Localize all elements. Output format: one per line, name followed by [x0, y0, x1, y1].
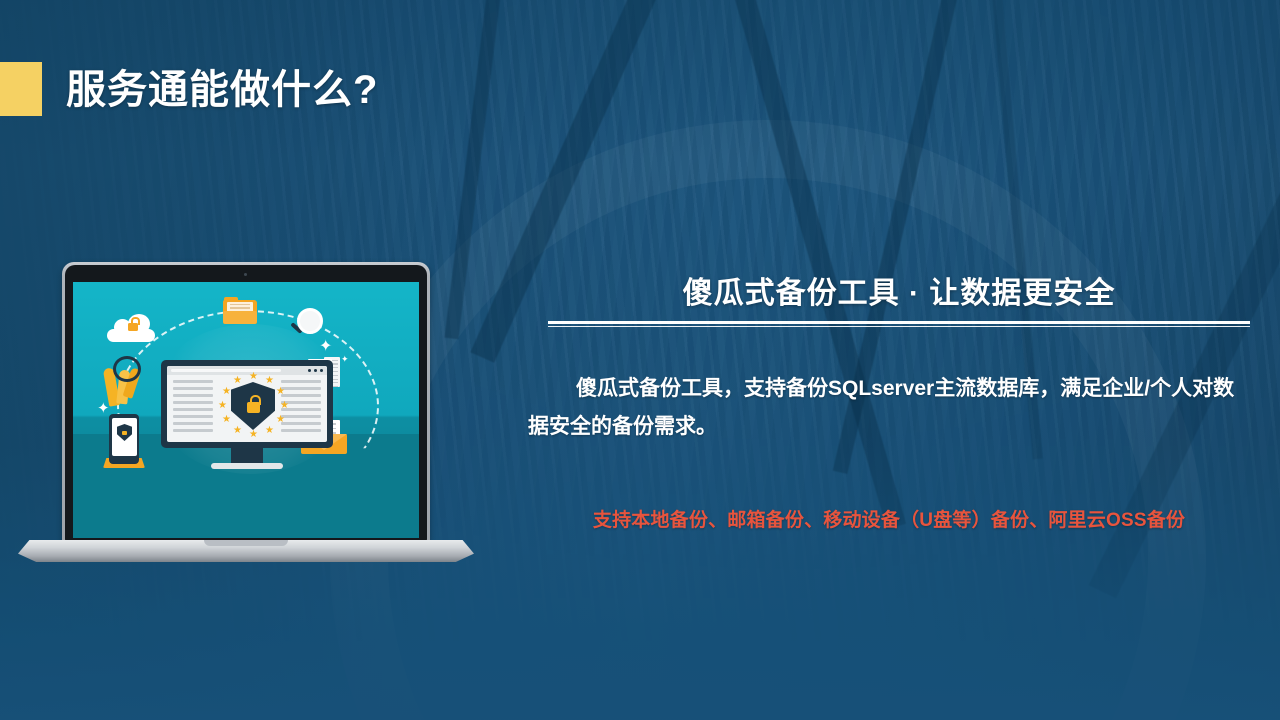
laptop-illustration: ★ ★ ★ ★ ★ ★ ★ ★ ★ ★ ★ ★	[18, 262, 474, 564]
magnifier-icon	[289, 308, 319, 340]
sparkle-icon: ✦	[341, 352, 349, 366]
headline: 傻瓜式备份工具 · 让数据更安全	[548, 268, 1250, 312]
highlight-text: 支持本地备份、邮箱备份、移动设备（U盘等）备份、阿里云OSS备份	[528, 505, 1250, 532]
divider	[548, 321, 1250, 327]
presentation-slide: 服务通能做什么?	[0, 0, 1280, 720]
monitor-icon: ★ ★ ★ ★ ★ ★ ★ ★ ★ ★ ★ ★	[161, 360, 333, 448]
laptop-notch	[204, 540, 288, 546]
webcam-icon	[244, 273, 247, 276]
cloud-lock-icon	[107, 320, 155, 342]
keys-icon	[103, 356, 147, 416]
page-title: 服务通能做什么?	[66, 57, 378, 115]
sparkle-icon: ✦	[319, 340, 332, 354]
sparkle-icon: ✦	[97, 402, 110, 416]
title-accent-square	[0, 62, 42, 116]
laptop-screen: ★ ★ ★ ★ ★ ★ ★ ★ ★ ★ ★ ★	[73, 282, 419, 538]
smartphone-shield-icon	[109, 414, 139, 468]
body-text: 傻瓜式备份工具，支持备份SQLserver主流数据库，满足企业/个人对数据安全的…	[528, 370, 1250, 446]
folder-icon	[223, 300, 257, 326]
